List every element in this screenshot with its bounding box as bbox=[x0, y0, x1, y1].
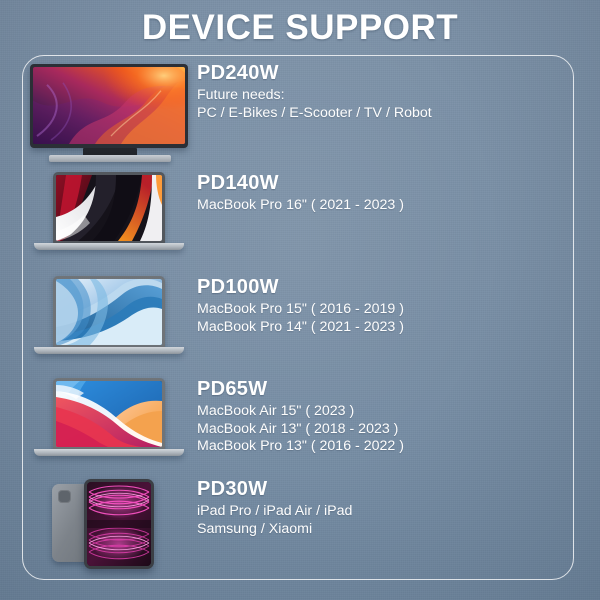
tv-screen bbox=[33, 67, 185, 144]
device-text-pd240w: PD240W Future needs: PC / E-Bikes / E-Sc… bbox=[197, 62, 578, 122]
device-row-pd140w: PD140W MacBook Pro 16" ( 2021 - 2023 ) bbox=[22, 172, 578, 260]
wattage-label: PD240W bbox=[197, 62, 578, 84]
device-line: Samsung / Xiaomi bbox=[197, 521, 578, 539]
wattage-label: PD65W bbox=[197, 378, 578, 400]
device-line: Future needs: bbox=[197, 87, 578, 105]
laptop-screen bbox=[56, 175, 162, 241]
page-title: DEVICE SUPPORT bbox=[0, 8, 600, 48]
ipad-icon bbox=[22, 478, 197, 570]
device-line: iPad Pro / iPad Air / iPad bbox=[197, 503, 578, 521]
device-row-pd30w: PD30W iPad Pro / iPad Air / iPad Samsung… bbox=[22, 478, 578, 570]
tv-icon bbox=[22, 62, 197, 167]
device-line: MacBook Air 15" ( 2023 ) bbox=[197, 403, 578, 421]
tv-wallpaper bbox=[33, 67, 185, 144]
macbook-pro-16-icon bbox=[22, 172, 197, 260]
ipad-wallpaper bbox=[87, 482, 151, 566]
device-row-pd100w: PD100W MacBook Pro 15" ( 2016 - 2019 ) M… bbox=[22, 276, 578, 368]
macbook-pro-16-wallpaper bbox=[56, 175, 162, 241]
device-text-pd65w: PD65W MacBook Air 15" ( 2023 ) MacBook A… bbox=[197, 378, 578, 456]
laptop-deck bbox=[34, 449, 184, 456]
laptop-deck bbox=[34, 243, 184, 250]
device-line: MacBook Pro 16" ( 2021 - 2023 ) bbox=[197, 197, 578, 215]
wattage-label: PD100W bbox=[197, 276, 578, 298]
wattage-label: PD30W bbox=[197, 478, 578, 500]
laptop-lid bbox=[53, 378, 165, 450]
laptop-deck bbox=[34, 347, 184, 354]
device-line: MacBook Pro 13" ( 2016 - 2022 ) bbox=[197, 438, 578, 456]
device-text-pd30w: PD30W iPad Pro / iPad Air / iPad Samsung… bbox=[197, 478, 578, 538]
ipad-front-device bbox=[84, 479, 154, 569]
ipad-camera-icon bbox=[58, 490, 71, 503]
device-row-pd240w: PD240W Future needs: PC / E-Bikes / E-Sc… bbox=[22, 62, 578, 167]
laptop-screen bbox=[56, 381, 162, 447]
tv-bezel bbox=[30, 64, 188, 148]
laptop-screen bbox=[56, 279, 162, 345]
device-text-pd140w: PD140W MacBook Pro 16" ( 2021 - 2023 ) bbox=[197, 172, 578, 215]
macbook-air-wallpaper bbox=[56, 381, 162, 447]
device-line: MacBook Air 13" ( 2018 - 2023 ) bbox=[197, 421, 578, 439]
macbook-air-icon bbox=[22, 378, 197, 470]
tv-stand-base bbox=[49, 155, 171, 162]
macbook-pro-15-wallpaper bbox=[56, 279, 162, 345]
device-line: MacBook Pro 15" ( 2016 - 2019 ) bbox=[197, 301, 578, 319]
device-line: MacBook Pro 14" ( 2021 - 2023 ) bbox=[197, 319, 578, 337]
device-line: PC / E-Bikes / E-Scooter / TV / Robot bbox=[197, 105, 578, 123]
device-row-pd65w: PD65W MacBook Air 15" ( 2023 ) MacBook A… bbox=[22, 378, 578, 470]
laptop-lid bbox=[53, 276, 165, 348]
wattage-label: PD140W bbox=[197, 172, 578, 194]
ipad-screen bbox=[87, 482, 151, 566]
laptop-lid bbox=[53, 172, 165, 244]
macbook-pro-15-icon bbox=[22, 276, 197, 368]
device-text-pd100w: PD100W MacBook Pro 15" ( 2016 - 2019 ) M… bbox=[197, 276, 578, 336]
